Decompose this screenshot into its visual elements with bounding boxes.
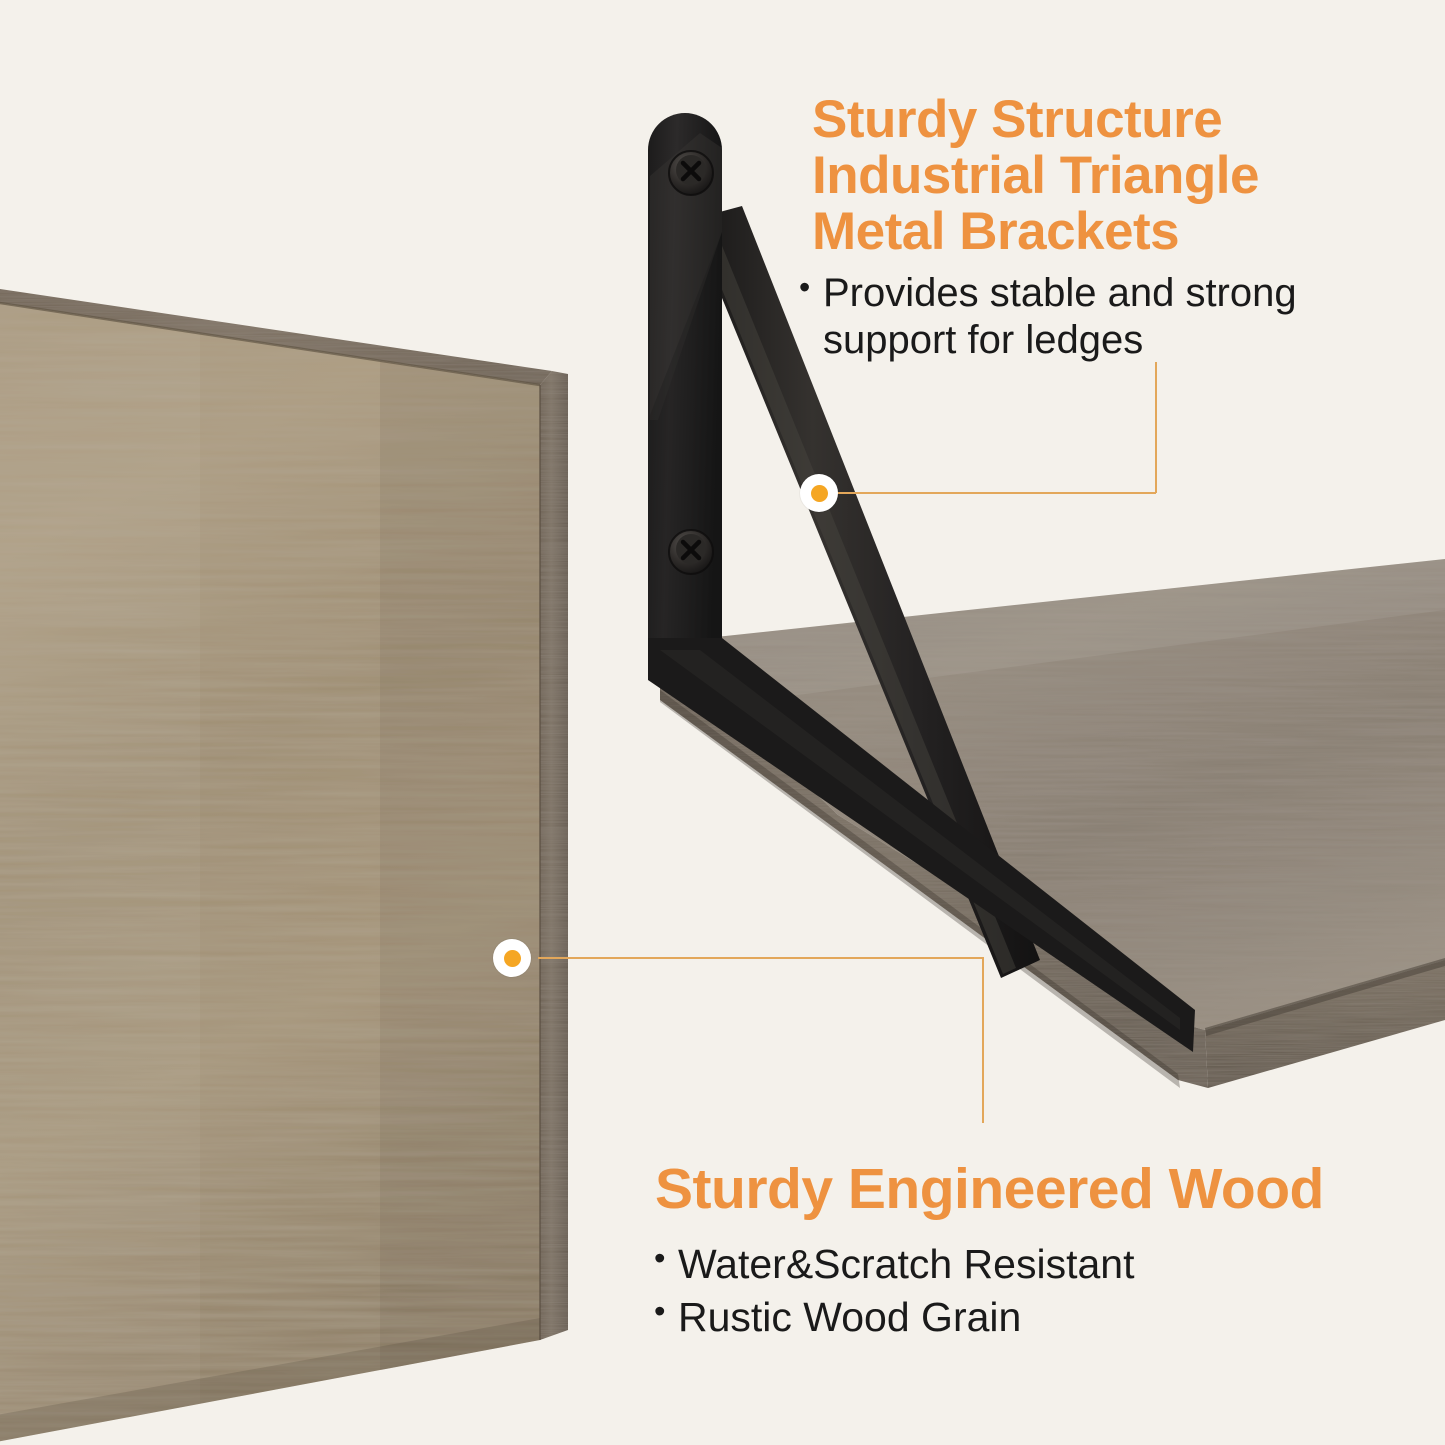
list-item: Provides stable and strong support for l… (797, 270, 1397, 364)
bracket-screw-bottom (669, 530, 713, 574)
wood-callout-bullets: Water&Scratch Resistant Rustic Wood Grai… (652, 1238, 1352, 1345)
bracket-callout-bullets: Provides stable and strong support for l… (797, 270, 1397, 364)
engineered-wood-callout-dot[interactable] (493, 939, 531, 977)
bracket-screw-top (669, 151, 713, 195)
bracket-callout-heading: Sturdy Structure Industrial Triangle Met… (812, 92, 1412, 261)
list-item: Water&Scratch Resistant (652, 1238, 1352, 1291)
infographic-canvas: Sturdy Structure Industrial Triangle Met… (0, 0, 1445, 1445)
wood-panel-left (0, 286, 568, 1445)
wood-callout-heading: Sturdy Engineered Wood (655, 1160, 1445, 1218)
metal-bracket-callout-dot[interactable] (800, 474, 838, 512)
list-item: Rustic Wood Grain (652, 1291, 1352, 1344)
